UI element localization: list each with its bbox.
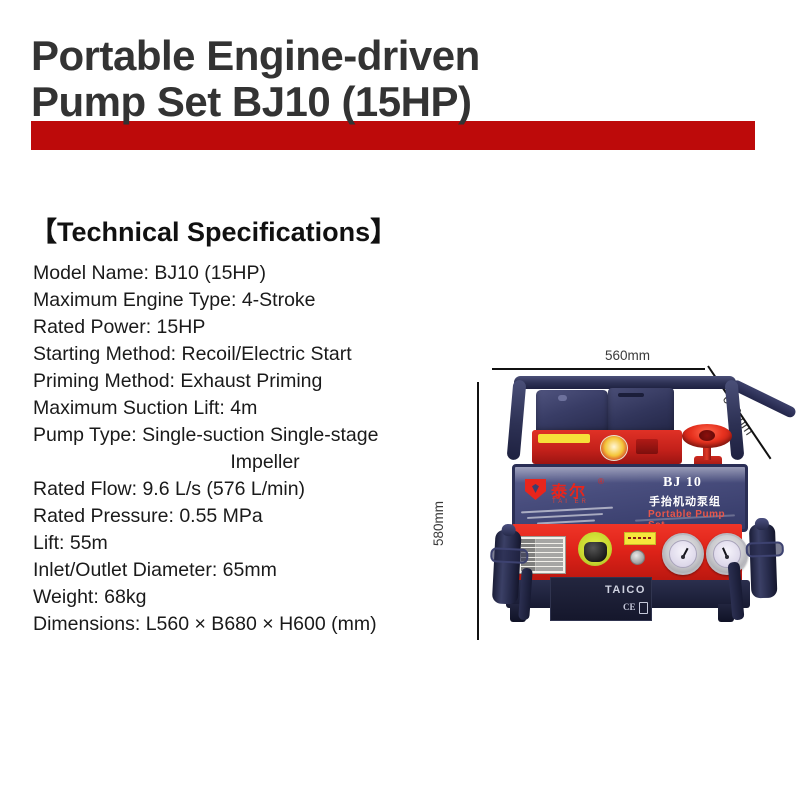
pressure-gauge-face xyxy=(669,540,697,568)
carry-handle-grip-icon xyxy=(492,529,522,604)
title-banner-bar xyxy=(31,121,755,150)
engine-block xyxy=(532,430,682,464)
fuel-cap-icon xyxy=(558,395,567,401)
rotary-knob-icon[interactable] xyxy=(584,542,607,562)
spec-line-rated-pressure: Rated Pressure: 0.55 MPa xyxy=(33,503,453,530)
carry-handle-right xyxy=(749,514,778,599)
control-panel xyxy=(512,524,742,582)
frame-left-post-icon xyxy=(507,380,527,461)
switch-warning-label xyxy=(624,532,656,545)
spec-line-pump-type: Pump Type: Single-suction Single-stage xyxy=(33,422,453,449)
panel-model-code: BJ 10 xyxy=(663,475,702,491)
brand-name-pinyin: TAI ER xyxy=(552,499,589,505)
spec-line-engine-type: Maximum Engine Type: 4-Stroke xyxy=(33,287,453,314)
brand-shield-logo-icon xyxy=(525,479,546,500)
spec-line-dimensions: Dimensions: L560 × B680 × H600 (mm) xyxy=(33,611,453,638)
fuel-tank xyxy=(536,390,608,434)
specs-list: Model Name: BJ10 (15HP) Maximum Engine T… xyxy=(33,260,453,638)
waste-bin-icon xyxy=(639,602,648,614)
carry-handle-left xyxy=(492,519,522,604)
dimension-rule-height xyxy=(477,382,479,640)
data-plate-row xyxy=(521,539,563,543)
valve-wheel-hub-icon xyxy=(699,430,715,441)
data-plate-row xyxy=(521,562,563,566)
ce-mark: CE xyxy=(623,602,636,612)
specs-heading: 【Technical Specifications】 xyxy=(30,210,397,249)
spec-line-inlet-outlet-diameter: Inlet/Outlet Diameter: 65mm xyxy=(33,557,453,584)
spec-line-weight: Weight: 68kg xyxy=(33,584,453,611)
ignition-rotary-switch[interactable] xyxy=(578,532,612,566)
carry-handle-collar-icon xyxy=(746,541,785,557)
panel-gloss-highlight xyxy=(515,467,745,483)
air-filter-vent-icon xyxy=(618,393,644,397)
frame-leg-left xyxy=(518,568,533,621)
panel-model-description-cn: 手抬机动泵组 xyxy=(649,493,721,509)
carry-handle-cap-icon xyxy=(755,518,769,530)
brand-registered-mark: ® xyxy=(598,477,604,486)
spec-line-starting-method: Starting Method: Recoil/Electric Start xyxy=(33,341,453,368)
page-title: Portable Engine-driven Pump Set BJ10 (15… xyxy=(31,33,771,125)
engine-warning-decal xyxy=(538,434,590,443)
pressure-gauge xyxy=(662,533,704,575)
branding-panel: 泰尔 ® TAI ER BJ 10 手抬机动泵组 Portable Pump S… xyxy=(512,464,748,532)
dimension-rule-width xyxy=(492,368,705,370)
air-filter-box xyxy=(608,388,674,435)
spec-line-lift: Lift: 55m xyxy=(33,530,453,557)
pressure-gauge-pin-icon xyxy=(681,555,685,559)
carry-handle-cap-icon xyxy=(501,524,516,537)
engine-round-emblem-icon xyxy=(600,435,628,461)
dimension-label-width: 560mm xyxy=(605,348,650,363)
spec-line-pump-type-continued: Impeller xyxy=(33,449,453,476)
vacuum-gauge-pin-icon xyxy=(725,555,729,559)
vacuum-gauge xyxy=(706,533,748,575)
data-plate-row xyxy=(521,544,563,548)
carry-handle-grip-icon xyxy=(749,524,778,599)
valve-handwheel xyxy=(682,424,732,448)
product-photo: 560mm 580mm 680mm xyxy=(430,330,800,670)
start-push-button[interactable] xyxy=(630,550,645,565)
header-block: Portable Engine-driven Pump Set BJ10 (15… xyxy=(0,0,800,160)
spec-line-rated-power: Rated Power: 15HP xyxy=(33,314,453,341)
engine-vent-icon xyxy=(636,439,658,454)
spec-line-suction-lift: Maximum Suction Lift: 4m xyxy=(33,395,453,422)
spec-line-priming-method: Priming Method: Exhaust Priming xyxy=(33,368,453,395)
carry-handle-collar-icon xyxy=(490,547,529,564)
dimension-label-height: 580mm xyxy=(431,501,446,546)
spec-line-rated-flow: Rated Flow: 9.6 L/s (576 L/min) xyxy=(33,476,453,503)
base-brand-name: TAICO xyxy=(605,584,646,596)
pump-set-machine: 泰尔 ® TAI ER BJ 10 手抬机动泵组 Portable Pump S… xyxy=(492,372,792,642)
base-info-plate: TAICO CE xyxy=(550,577,652,621)
panel-swoosh-icon xyxy=(527,513,603,519)
spec-line-model-name: Model Name: BJ10 (15HP) xyxy=(33,260,453,287)
